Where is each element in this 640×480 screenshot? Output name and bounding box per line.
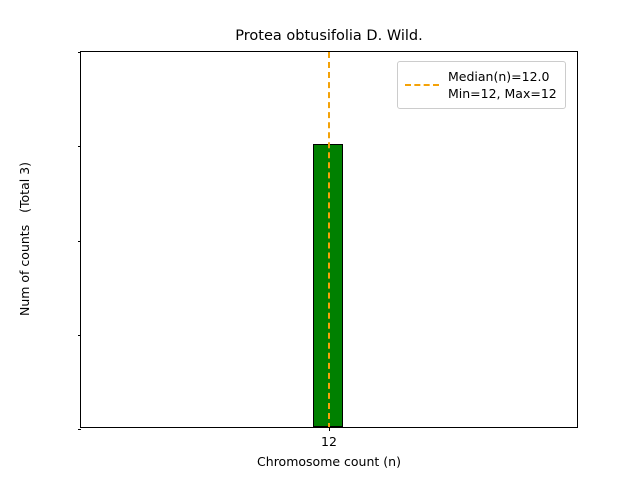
legend-dashed-line-icon	[405, 84, 439, 86]
plot-axes: 0 1 2 3 4 12 Median(n)=12.0 Min=12, Max=…	[80, 51, 578, 428]
xtick-mark-12	[329, 427, 330, 431]
chart-legend: Median(n)=12.0 Min=12, Max=12	[397, 61, 566, 109]
y-axis-label: Num of counts (Total 3)	[18, 129, 32, 349]
x-axis-label: Chromosome count (n)	[80, 455, 578, 469]
ytick-mark-4	[78, 52, 82, 53]
legend-entry-text: Median(n)=12.0 Min=12, Max=12	[448, 68, 557, 102]
xtick-label-12: 12	[321, 436, 337, 449]
chart-title: Protea obtusifolia D. Wild.	[80, 27, 578, 45]
ytick-mark-3	[78, 146, 82, 147]
chart-figure: Protea obtusifolia D. Wild. 0 1 2 3 4 12	[0, 0, 640, 480]
legend-label-minmax: Min=12, Max=12	[448, 85, 557, 102]
ytick-mark-1	[78, 335, 82, 336]
ytick-mark-0	[78, 429, 82, 430]
median-vline	[328, 52, 330, 427]
ytick-mark-2	[78, 241, 82, 242]
legend-entry-median: Median(n)=12.0 Min=12, Max=12	[405, 68, 557, 102]
legend-label-median: Median(n)=12.0	[448, 68, 557, 85]
